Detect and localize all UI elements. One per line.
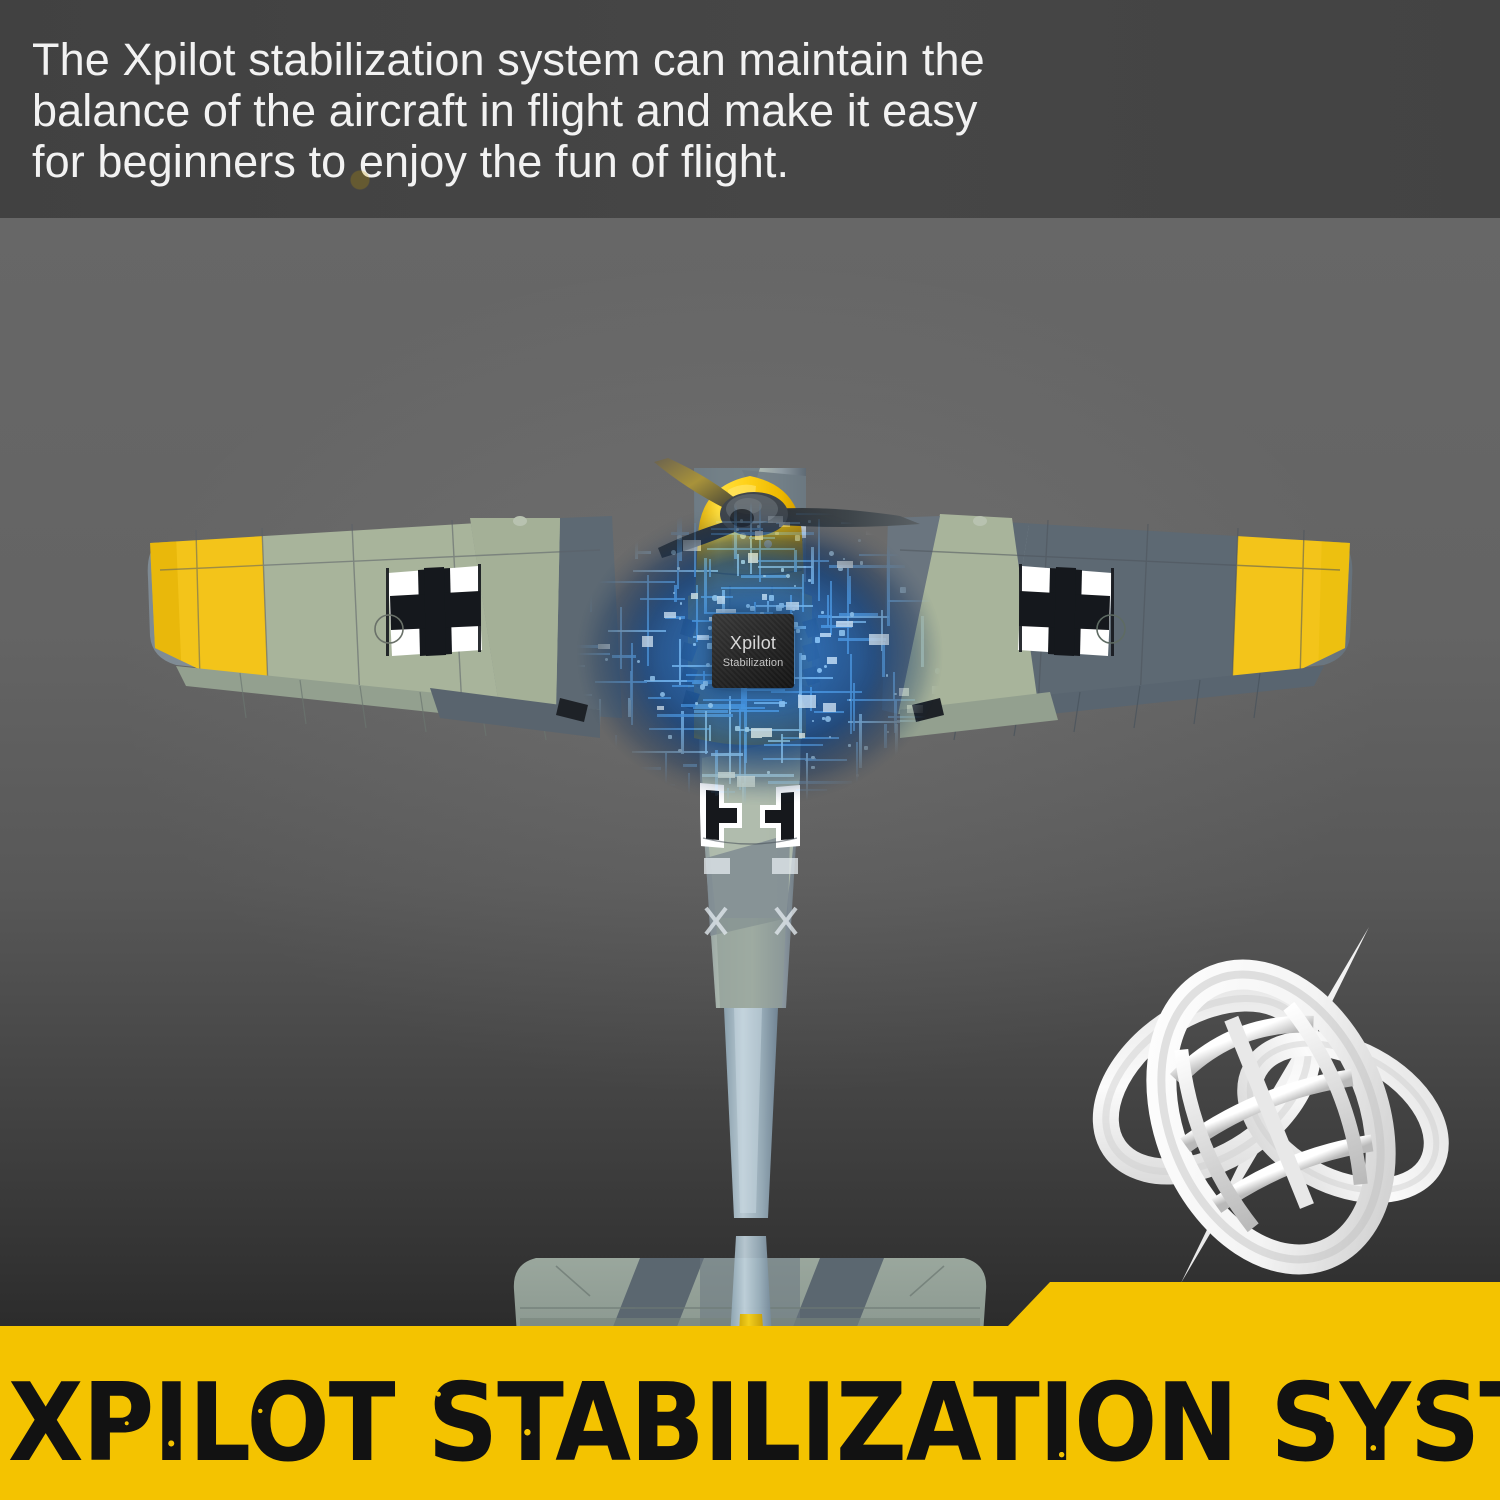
right-wing (882, 514, 1352, 740)
chip-subtitle: Stabilization (723, 657, 784, 669)
banner-title: XPILOT STABILIZATION SYSTEM (8, 1361, 1500, 1486)
wing-cross-right (1018, 564, 1114, 656)
xpilot-chip: Xpilot Stabilization (712, 614, 794, 688)
left-wing (148, 514, 622, 740)
wing-cross-left (386, 564, 482, 656)
chip-title: Xpilot (730, 633, 776, 654)
promo-image: Xpilot Stabilization (0, 0, 1500, 1500)
gyroscope-gimbal-icon (1075, 905, 1475, 1295)
